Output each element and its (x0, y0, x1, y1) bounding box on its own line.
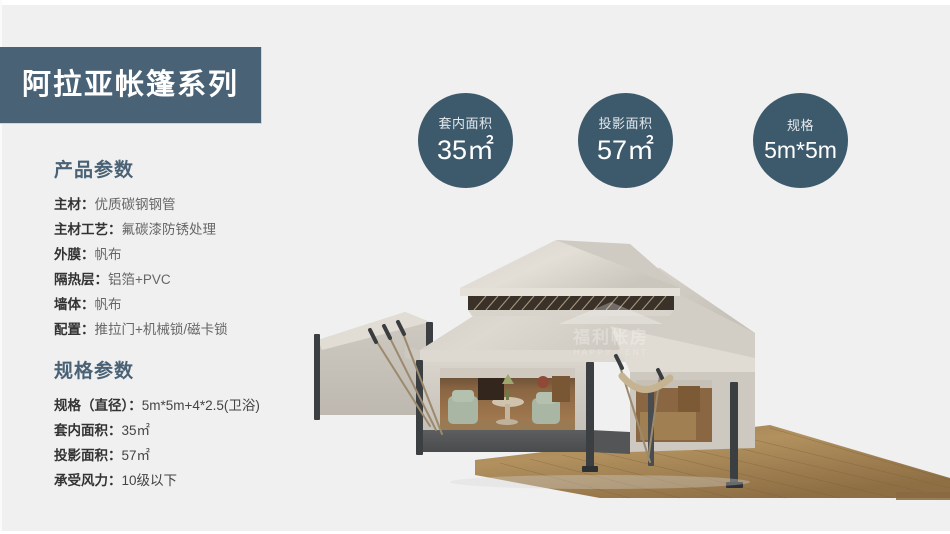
param-value: 优质碳钢钢管 (95, 197, 176, 212)
title-banner: 阿拉亚帐篷系列 (0, 47, 262, 124)
spec-label: 规格（直径）： (54, 398, 142, 413)
support-post-mid (586, 362, 594, 470)
param-label: 主材： (54, 197, 95, 212)
param-value: 氟碳漆防锈处理 (122, 222, 217, 237)
interior-piano (478, 378, 504, 400)
right-interior-cabinet (678, 386, 700, 412)
param-value: 帆布 (95, 297, 122, 312)
stat-circle-label: 投影面积 (598, 117, 652, 130)
interior-cabinet (552, 376, 570, 402)
product-params-heading: 产品参数 (54, 155, 354, 182)
param-label: 配置： (54, 322, 95, 337)
stat-circle-value: 35㎡ (437, 137, 494, 164)
param-label: 主材工艺： (54, 222, 122, 237)
param-value: 铝箔+PVC (108, 272, 171, 287)
top-bleed-strip (0, 0, 950, 5)
stat-circle-dimensions: 规格 5m*5m (753, 93, 848, 188)
param-value: 帆布 (95, 247, 122, 262)
stat-circle-projected-area: 投影面积 57㎡ (578, 93, 673, 188)
spec-value: 57㎡ (122, 448, 151, 463)
spec-value: 10级以下 (122, 473, 178, 488)
param-label: 隔热层： (54, 272, 108, 287)
spec-value: 5m*5m+4*2.5(卫浴) (142, 398, 260, 413)
stat-circle-interior-area: 套内面积 35㎡ (418, 93, 513, 188)
stone-foundation (420, 430, 590, 452)
stat-circle-label: 规格 (787, 119, 814, 132)
stat-circle-value: 57㎡ (597, 137, 654, 164)
param-label: 墙体： (54, 297, 95, 312)
param-value: 推拉门+机械锁/磁卡锁 (95, 322, 228, 337)
param-label: 外膜： (54, 247, 95, 262)
spec-label: 套内面积： (54, 423, 122, 438)
support-post-right (730, 382, 738, 486)
param-row: 主材：优质碳钢钢管 (54, 192, 354, 217)
product-spec-page: 阿拉亚帐篷系列 产品参数 主材：优质碳钢钢管 主材工艺：氟碳漆防锈处理 外膜：帆… (0, 0, 950, 534)
stat-circle-value: 5m*5m (764, 139, 837, 162)
spec-label: 投影面积： (54, 448, 122, 463)
page-title: 阿拉亚帐篷系列 (22, 71, 239, 100)
spec-label: 承受风力： (54, 473, 122, 488)
tent-illustration (300, 230, 950, 505)
spec-value: 35㎡ (122, 423, 151, 438)
stat-circle-label: 套内面积 (438, 117, 492, 130)
